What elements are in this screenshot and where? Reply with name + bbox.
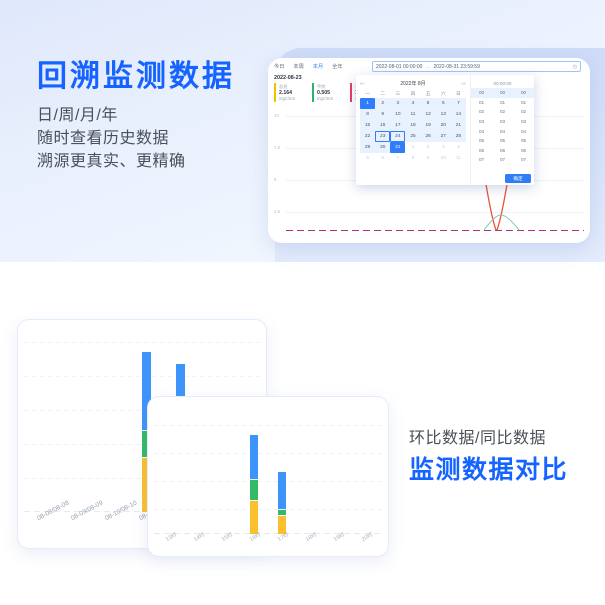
time-option[interactable]: 07 [492, 155, 513, 165]
confirm-button[interactable]: 确定 [505, 174, 531, 183]
dashed-baseline [286, 230, 584, 231]
time-option[interactable]: 03 [492, 117, 513, 127]
time-option[interactable]: 05 [513, 136, 534, 146]
headline-line-3: 溯源更真实、更精确 [37, 150, 272, 173]
date-range-end[interactable]: 2022-08-31 23:59:59 [433, 63, 479, 71]
headline-subtitles: 日/周/月/年 随时查看历史数据 溯源更真实、更精确 [37, 104, 272, 173]
calendar-day[interactable]: 3 [390, 98, 405, 109]
time-option[interactable]: 07 [471, 155, 492, 165]
calendar-day[interactable]: 1 [360, 98, 375, 109]
calendar-weekday: 二 [375, 89, 390, 98]
calendar-day[interactable]: 19 [421, 120, 436, 131]
time-column[interactable]: 0001020304050607 [513, 88, 534, 166]
calendar-day[interactable]: 5 [421, 98, 436, 109]
calendar-nav: « ‹ 2022年 8月 › » [360, 78, 466, 88]
bar-stack[interactable] [278, 472, 286, 534]
stat-unit: mgC/m3 [279, 96, 307, 101]
stat-name: 甲烷 [317, 84, 345, 89]
caption-small: 环比数据/同比数据 [409, 428, 599, 450]
calendar-day[interactable]: 20 [436, 120, 451, 131]
date-range-input[interactable]: 2022-08-01 00:00:00 → 2022-08-31 23:59:5… [372, 61, 581, 72]
calendar-day[interactable]: 23 [375, 131, 390, 142]
date-range-separator: → [425, 63, 430, 71]
time-option[interactable]: 02 [492, 107, 513, 117]
next-year-icon[interactable]: » [463, 81, 466, 86]
time-columns[interactable]: 0001020304050607000102030405060700010203… [471, 88, 534, 166]
calendar-day[interactable]: 4 [451, 142, 466, 153]
calendar-day[interactable]: 2 [421, 142, 436, 153]
calendar-day[interactable]: 31 [390, 142, 405, 153]
tab-this-week[interactable]: 本周 [293, 63, 303, 71]
time-column[interactable]: 0001020304050607 [492, 88, 513, 166]
peak-curve-teal [484, 215, 519, 230]
headline-block: 回溯监测数据 日/周/月/年 随时查看历史数据 溯源更真实、更精确 [37, 58, 272, 173]
date-range-start[interactable]: 2022-08-01 00:00:00 [376, 63, 422, 71]
bar-segment-blue [278, 472, 286, 509]
headline-line-2: 随时查看历史数据 [37, 127, 272, 150]
calendar-day[interactable]: 27 [436, 131, 451, 142]
calendar-weekday: 一 [360, 89, 375, 98]
stacked-bar-group [148, 419, 388, 556]
calendar-day[interactable]: 15 [360, 120, 375, 131]
calendar-day[interactable]: 6 [375, 153, 390, 164]
time-option[interactable]: 00 [471, 88, 492, 98]
bar-segment-yellow [250, 501, 258, 534]
time-option[interactable]: 01 [471, 98, 492, 108]
calendar-day[interactable]: 7 [390, 153, 405, 164]
calendar-pane: « ‹ 2022年 8月 › » 一二三四五六日1234567891011121… [356, 75, 470, 185]
stat-unit: mgC/m3 [317, 96, 345, 101]
calendar-day[interactable]: 5 [360, 153, 375, 164]
calendar-day[interactable]: 13 [436, 109, 451, 120]
poster-canvas: 回溯监测数据 日/周/月/年 随时查看历史数据 溯源更真实、更精确 今日 本周 … [0, 0, 605, 605]
calendar-day[interactable]: 14 [451, 109, 466, 120]
time-title: 00:00:00 [471, 78, 534, 88]
y-axis-label: 2.5 [274, 209, 280, 214]
calendar-day[interactable]: 3 [436, 142, 451, 153]
calendar-day[interactable]: 29 [360, 142, 375, 153]
calendar-day[interactable]: 22 [360, 131, 375, 142]
bar-segment-green [250, 480, 258, 500]
time-option[interactable]: 03 [471, 117, 492, 127]
calendar-weekday: 三 [390, 89, 405, 98]
calendar-day[interactable]: 4 [405, 98, 420, 109]
calendar-weekday: 六 [436, 89, 451, 98]
stat-card: 甲烷 0.505 mgC/m3 [312, 83, 345, 102]
time-option[interactable]: 02 [513, 107, 534, 117]
calendar-day[interactable]: 7 [451, 98, 466, 109]
calendar-day[interactable]: 12 [421, 109, 436, 120]
current-date-label: 2022-08-23 [274, 75, 302, 81]
caption-big: 监测数据对比 [409, 454, 599, 486]
y-axis-label: 7.5 [274, 145, 280, 150]
page-title: 回溯监测数据 [37, 58, 272, 96]
calendar-day[interactable]: 10 [390, 109, 405, 120]
y-axis-label: 10 [274, 113, 279, 118]
calendar-day[interactable]: 21 [451, 120, 466, 131]
calendar-day[interactable]: 18 [405, 120, 420, 131]
calendar-weekday: 五 [421, 89, 436, 98]
calendar-weekday: 日 [451, 89, 466, 98]
calendar-day[interactable]: 26 [421, 131, 436, 142]
tab-today[interactable]: 今日 [274, 63, 284, 71]
calendar-day[interactable]: 28 [451, 131, 466, 142]
datetime-picker-popup[interactable]: « ‹ 2022年 8月 › » 一二三四五六日1234567891011121… [356, 75, 534, 185]
time-option[interactable]: 06 [471, 146, 492, 156]
clock-icon[interactable]: ◷ [573, 63, 577, 71]
time-option[interactable]: 07 [513, 155, 534, 165]
calendar-day[interactable]: 8 [360, 109, 375, 120]
y-axis-label: 5 [274, 177, 276, 182]
calendar-day[interactable]: 24 [390, 131, 405, 142]
time-option[interactable]: 01 [492, 98, 513, 108]
calendar-day[interactable]: 9 [421, 153, 436, 164]
time-option[interactable]: 06 [492, 146, 513, 156]
time-option[interactable]: 02 [471, 107, 492, 117]
calendar-day[interactable]: 16 [375, 120, 390, 131]
time-option[interactable]: 04 [513, 126, 534, 136]
calendar-day[interactable]: 1 [405, 142, 420, 153]
time-option[interactable]: 00 [513, 88, 534, 98]
calendar-day[interactable]: 2 [375, 98, 390, 109]
time-option[interactable]: 05 [471, 136, 492, 146]
time-option[interactable]: 03 [513, 117, 534, 127]
calendar-weekday: 四 [405, 89, 420, 98]
time-option[interactable]: 06 [513, 146, 534, 156]
time-column[interactable]: 0001020304050607 [471, 88, 492, 166]
calendar-title: 2022年 8月 [365, 80, 461, 87]
comparison-chart-card-2: 13时14时15时16时17时18时19时20时 [147, 396, 389, 557]
calendar-grid[interactable]: 一二三四五六日123456789101112131415161718192021… [360, 89, 466, 164]
calendar-day[interactable]: 8 [405, 153, 420, 164]
time-option[interactable]: 00 [492, 88, 513, 98]
tab-this-month[interactable]: 本月 [313, 63, 323, 71]
time-option[interactable]: 05 [492, 136, 513, 146]
calendar-day[interactable]: 6 [436, 98, 451, 109]
stat-card: 总烃 2.164 mgC/m3 [274, 83, 307, 102]
stat-name: 总烃 [279, 84, 307, 89]
caption-block: 环比数据/同比数据 监测数据对比 [409, 428, 599, 486]
calendar-day[interactable]: 11 [405, 109, 420, 120]
calendar-day[interactable]: 30 [375, 142, 390, 153]
calendar-day[interactable]: 25 [405, 131, 420, 142]
time-pane: 00:00:00 0001020304050607000102030405060… [470, 75, 534, 185]
app-screenshot-panel: 今日 本周 本月 全年 2022-08-01 00:00:00 → 2022-0… [268, 58, 590, 243]
headline-line-1: 日/周/月/年 [37, 104, 272, 127]
time-option[interactable]: 04 [471, 126, 492, 136]
calendar-day[interactable]: 9 [375, 109, 390, 120]
calendar-day[interactable]: 10 [436, 153, 451, 164]
tab-this-year[interactable]: 全年 [332, 63, 342, 71]
bar-segment-blue [250, 435, 258, 479]
period-tabs: 今日 本周 本月 全年 [274, 63, 343, 71]
time-option[interactable]: 04 [492, 126, 513, 136]
time-option[interactable]: 01 [513, 98, 534, 108]
calendar-day[interactable]: 17 [390, 120, 405, 131]
bar-stack[interactable] [250, 435, 258, 534]
calendar-day[interactable]: 11 [451, 153, 466, 164]
